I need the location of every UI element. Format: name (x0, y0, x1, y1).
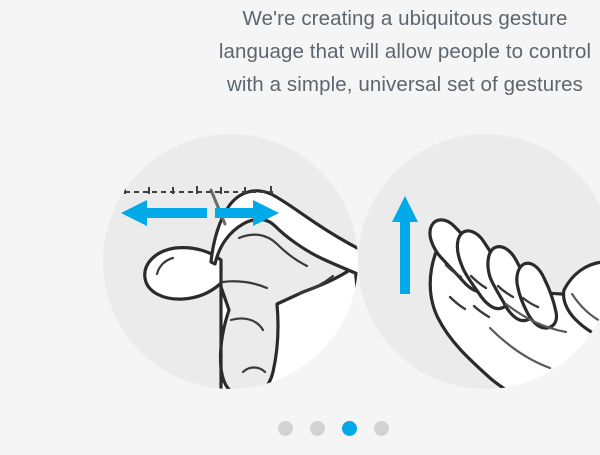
gesture-card-swipe-up[interactable] (358, 134, 600, 389)
tagline: We're creating a ubiquitous gesture lang… (0, 2, 600, 101)
pager-dot-1[interactable] (278, 421, 293, 436)
tagline-line-2: language that will allow people to contr… (0, 35, 600, 68)
swipe-up-arrow (392, 196, 418, 294)
page-root: We're creating a ubiquitous gesture lang… (0, 0, 600, 455)
pager-dot-4[interactable] (374, 421, 389, 436)
pointing-index-finger-illustration (103, 134, 358, 389)
pager-dot-2[interactable] (310, 421, 325, 436)
gesture-illustration-strip (0, 134, 600, 390)
gesture-card-swipe-horizontal[interactable] (103, 134, 358, 389)
carousel-pagination (0, 418, 600, 438)
open-palm-illustration (358, 134, 600, 389)
tagline-line-3: with a simple, universal set of gestures (0, 68, 600, 101)
pager-dot-3[interactable] (342, 421, 357, 436)
swipe-horizontal-arrow (121, 200, 279, 226)
tagline-line-1: We're creating a ubiquitous gesture (0, 2, 600, 35)
